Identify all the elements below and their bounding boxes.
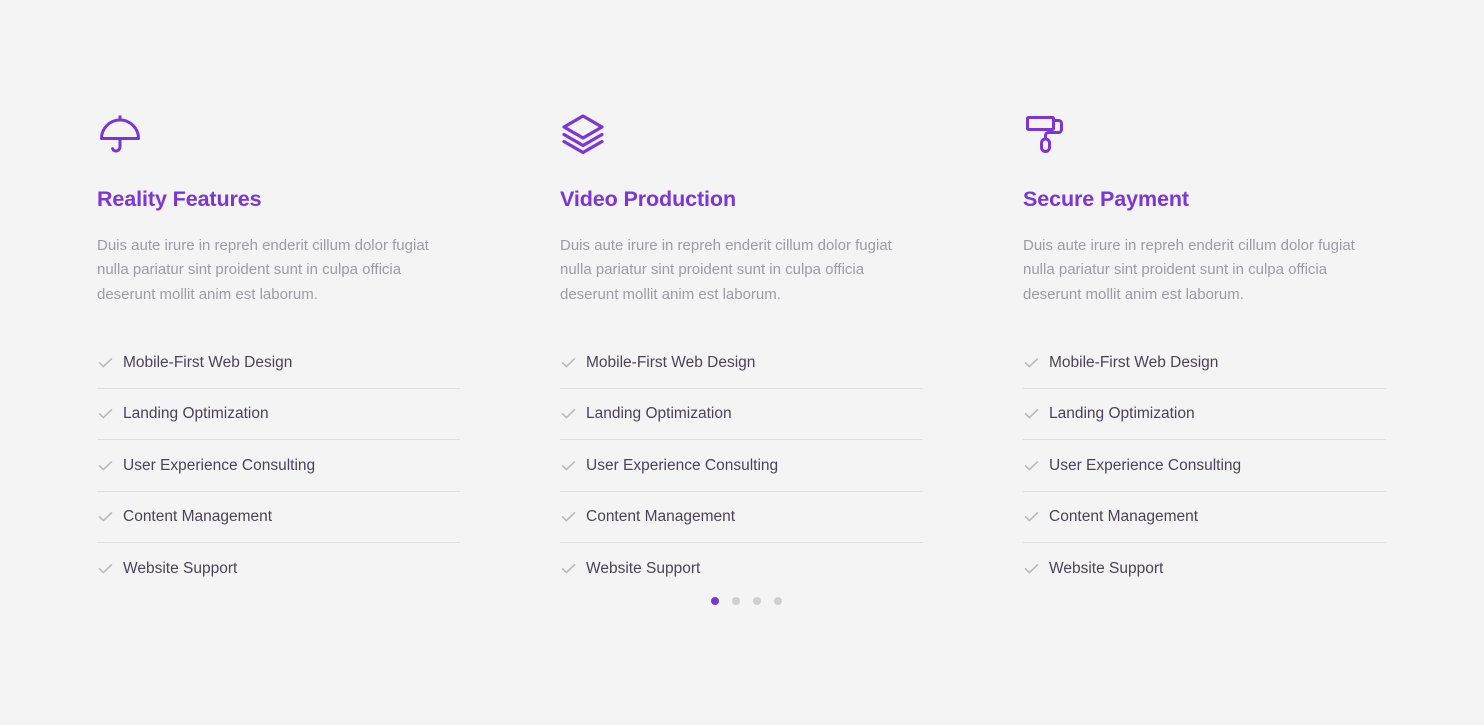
check-icon bbox=[1023, 508, 1040, 525]
layers-icon bbox=[560, 110, 923, 160]
card-description: Duis aute irure in repreh enderit cillum… bbox=[560, 234, 920, 308]
list-item[interactable]: Website Support bbox=[560, 543, 923, 594]
check-icon bbox=[97, 457, 114, 474]
list-item[interactable]: User Experience Consulting bbox=[560, 440, 923, 492]
pagination-dot-2[interactable] bbox=[732, 597, 740, 605]
check-icon bbox=[1023, 560, 1040, 577]
list-item[interactable]: Mobile-First Web Design bbox=[1023, 337, 1386, 389]
umbrella-icon bbox=[97, 110, 460, 160]
list-item[interactable]: Content Management bbox=[97, 492, 460, 544]
list-item-label: Website Support bbox=[586, 561, 700, 577]
list-item[interactable]: User Experience Consulting bbox=[97, 440, 460, 492]
list-item-label: Mobile-First Web Design bbox=[586, 355, 755, 371]
feature-card-video-production: Video Production Duis aute irure in repr… bbox=[560, 110, 923, 594]
list-item[interactable]: Content Management bbox=[560, 492, 923, 544]
pagination-dot-1[interactable] bbox=[711, 597, 719, 605]
list-item[interactable]: Landing Optimization bbox=[560, 389, 923, 441]
list-item[interactable]: Landing Optimization bbox=[1023, 389, 1386, 441]
list-item-label: Landing Optimization bbox=[586, 406, 732, 422]
check-icon bbox=[97, 354, 114, 371]
list-item[interactable]: Content Management bbox=[1023, 492, 1386, 544]
feature-list: Mobile-First Web Design Landing Optimiza… bbox=[1023, 337, 1386, 594]
check-icon bbox=[560, 560, 577, 577]
list-item[interactable]: Mobile-First Web Design bbox=[97, 337, 460, 389]
list-item[interactable]: Website Support bbox=[1023, 543, 1386, 594]
features-carousel-slide: Reality Features Duis aute irure in repr… bbox=[0, 0, 1484, 725]
feature-list: Mobile-First Web Design Landing Optimiza… bbox=[560, 337, 923, 594]
check-icon bbox=[97, 508, 114, 525]
check-icon bbox=[1023, 457, 1040, 474]
list-item-label: User Experience Consulting bbox=[586, 458, 778, 474]
feature-cards-row: Reality Features Duis aute irure in repr… bbox=[97, 110, 1387, 594]
list-item[interactable]: Mobile-First Web Design bbox=[560, 337, 923, 389]
list-item[interactable]: User Experience Consulting bbox=[1023, 440, 1386, 492]
list-item-label: Mobile-First Web Design bbox=[123, 355, 292, 371]
list-item-label: Content Management bbox=[123, 509, 272, 525]
feature-list: Mobile-First Web Design Landing Optimiza… bbox=[97, 337, 460, 594]
list-item-label: Landing Optimization bbox=[1049, 406, 1195, 422]
check-icon bbox=[560, 508, 577, 525]
list-item-label: Website Support bbox=[123, 561, 237, 577]
check-icon bbox=[560, 354, 577, 371]
card-title: Video Production bbox=[560, 188, 923, 212]
list-item-label: Landing Optimization bbox=[123, 406, 269, 422]
card-title: Reality Features bbox=[97, 188, 460, 212]
list-item-label: Website Support bbox=[1049, 561, 1163, 577]
list-item-label: User Experience Consulting bbox=[1049, 458, 1241, 474]
card-title: Secure Payment bbox=[1023, 188, 1386, 212]
check-icon bbox=[97, 560, 114, 577]
check-icon bbox=[1023, 354, 1040, 371]
paint-roller-icon bbox=[1023, 110, 1386, 160]
pagination-dot-3[interactable] bbox=[753, 597, 761, 605]
card-description: Duis aute irure in repreh enderit cillum… bbox=[1023, 234, 1383, 308]
list-item-label: Content Management bbox=[586, 509, 735, 525]
feature-card-reality-features: Reality Features Duis aute irure in repr… bbox=[97, 110, 460, 594]
check-icon bbox=[1023, 405, 1040, 422]
list-item[interactable]: Website Support bbox=[97, 543, 460, 594]
pagination-dot-4[interactable] bbox=[774, 597, 782, 605]
check-icon bbox=[560, 405, 577, 422]
list-item[interactable]: Landing Optimization bbox=[97, 389, 460, 441]
card-description: Duis aute irure in repreh enderit cillum… bbox=[97, 234, 457, 308]
feature-card-secure-payment: Secure Payment Duis aute irure in repreh… bbox=[1023, 110, 1386, 594]
check-icon bbox=[560, 457, 577, 474]
list-item-label: Mobile-First Web Design bbox=[1049, 355, 1218, 371]
carousel-pagination bbox=[711, 597, 782, 605]
list-item-label: User Experience Consulting bbox=[123, 458, 315, 474]
list-item-label: Content Management bbox=[1049, 509, 1198, 525]
check-icon bbox=[97, 405, 114, 422]
